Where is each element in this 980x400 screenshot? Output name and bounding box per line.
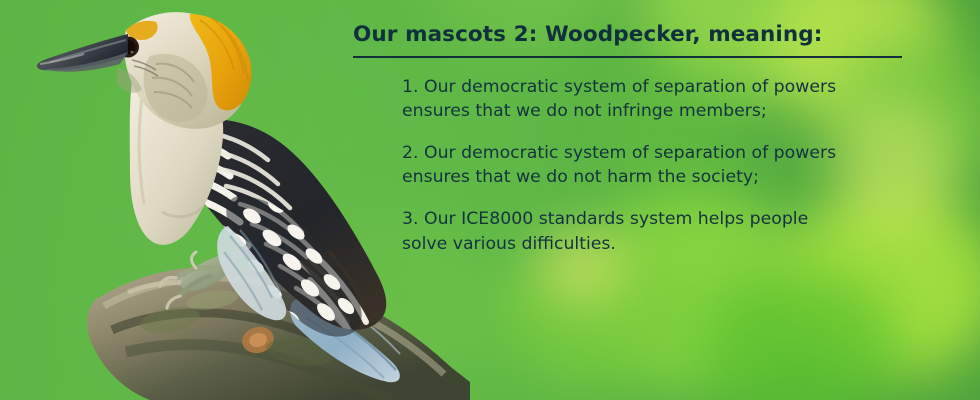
list-item: 3. Our ICE8000 standards system helps pe… (402, 207, 923, 256)
page-title: Our mascots 2: Woodpecker, meaning: (353, 22, 923, 48)
beak-shape (37, 34, 128, 72)
meaning-list: 1. Our democratic system of separation o… (353, 75, 923, 256)
list-item: 1. Our democratic system of separation o… (402, 75, 923, 124)
list-item: 2. Our democratic system of separation o… (402, 141, 923, 190)
banner-text-block: Our mascots 2: Woodpecker, meaning: 1. O… (353, 22, 923, 256)
title-divider (353, 56, 902, 58)
mascot-banner: Our mascots 2: Woodpecker, meaning: 1. O… (0, 0, 980, 400)
